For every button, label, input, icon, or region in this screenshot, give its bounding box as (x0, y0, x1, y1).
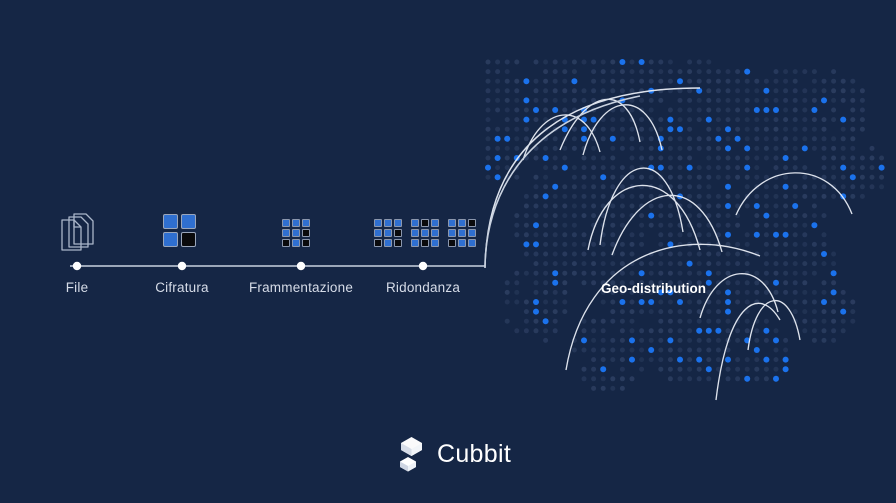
grid-cell (468, 229, 476, 237)
grid-cell (421, 239, 429, 247)
grid-cell (384, 229, 392, 237)
grid-cell (374, 239, 382, 247)
grid-cell (163, 232, 178, 247)
redundancy-block (448, 219, 476, 247)
encrypted-grid-icon (163, 214, 196, 247)
grid-cell (384, 239, 392, 247)
grid-cell (302, 229, 310, 237)
step-label-file: File (27, 280, 127, 295)
grid-cell (282, 229, 290, 237)
fragment-grid-icon (282, 219, 310, 247)
step-label-cifratura: Cifratura (132, 280, 232, 295)
grid-cell (431, 219, 439, 227)
grid-cell (431, 229, 439, 237)
grid-cell (448, 239, 456, 247)
grid-cell (458, 239, 466, 247)
grid-cell (468, 219, 476, 227)
logo-wordmark: Cubbit (437, 440, 511, 469)
redundancy-block (411, 219, 439, 247)
grid-cell (181, 214, 196, 229)
grid-cell (448, 219, 456, 227)
grid-cell (421, 219, 429, 227)
grid-cell (468, 239, 476, 247)
grid-cell (374, 229, 382, 237)
grid-cell (394, 219, 402, 227)
geo-distribution-label: Geo-distribution (601, 281, 706, 296)
redundancy-grid-icon (374, 219, 476, 247)
grid-cell (411, 219, 419, 227)
grid-cell (394, 239, 402, 247)
redundancy-block (374, 219, 402, 247)
grid-cell (458, 219, 466, 227)
grid-cell (163, 214, 178, 229)
step-label-frammentazione: Frammentazione (231, 280, 371, 295)
process-pipeline: File Cifratura Frammentazione Ridondanza… (0, 0, 896, 503)
infographic-canvas: File Cifratura Frammentazione Ridondanza… (0, 0, 896, 503)
cubbit-logo: Cubbit (395, 436, 511, 472)
cubes-icon (395, 436, 429, 472)
grid-cell (302, 239, 310, 247)
grid-cell (282, 219, 290, 227)
grid-cell (411, 239, 419, 247)
grid-cell (302, 219, 310, 227)
file-stack-icon (52, 208, 102, 254)
grid-cell (421, 229, 429, 237)
grid-cell (292, 219, 300, 227)
step-label-ridondanza: Ridondanza (373, 280, 473, 295)
grid-cell (411, 229, 419, 237)
grid-cell (181, 232, 196, 247)
pipeline-track (0, 0, 896, 503)
grid-cell (282, 239, 290, 247)
grid-cell (431, 239, 439, 247)
grid-cell (384, 219, 392, 227)
grid-cell (292, 239, 300, 247)
grid-cell (394, 229, 402, 237)
grid-cell (292, 229, 300, 237)
grid-cell (448, 229, 456, 237)
grid-cell (374, 219, 382, 227)
grid-cell (458, 229, 466, 237)
